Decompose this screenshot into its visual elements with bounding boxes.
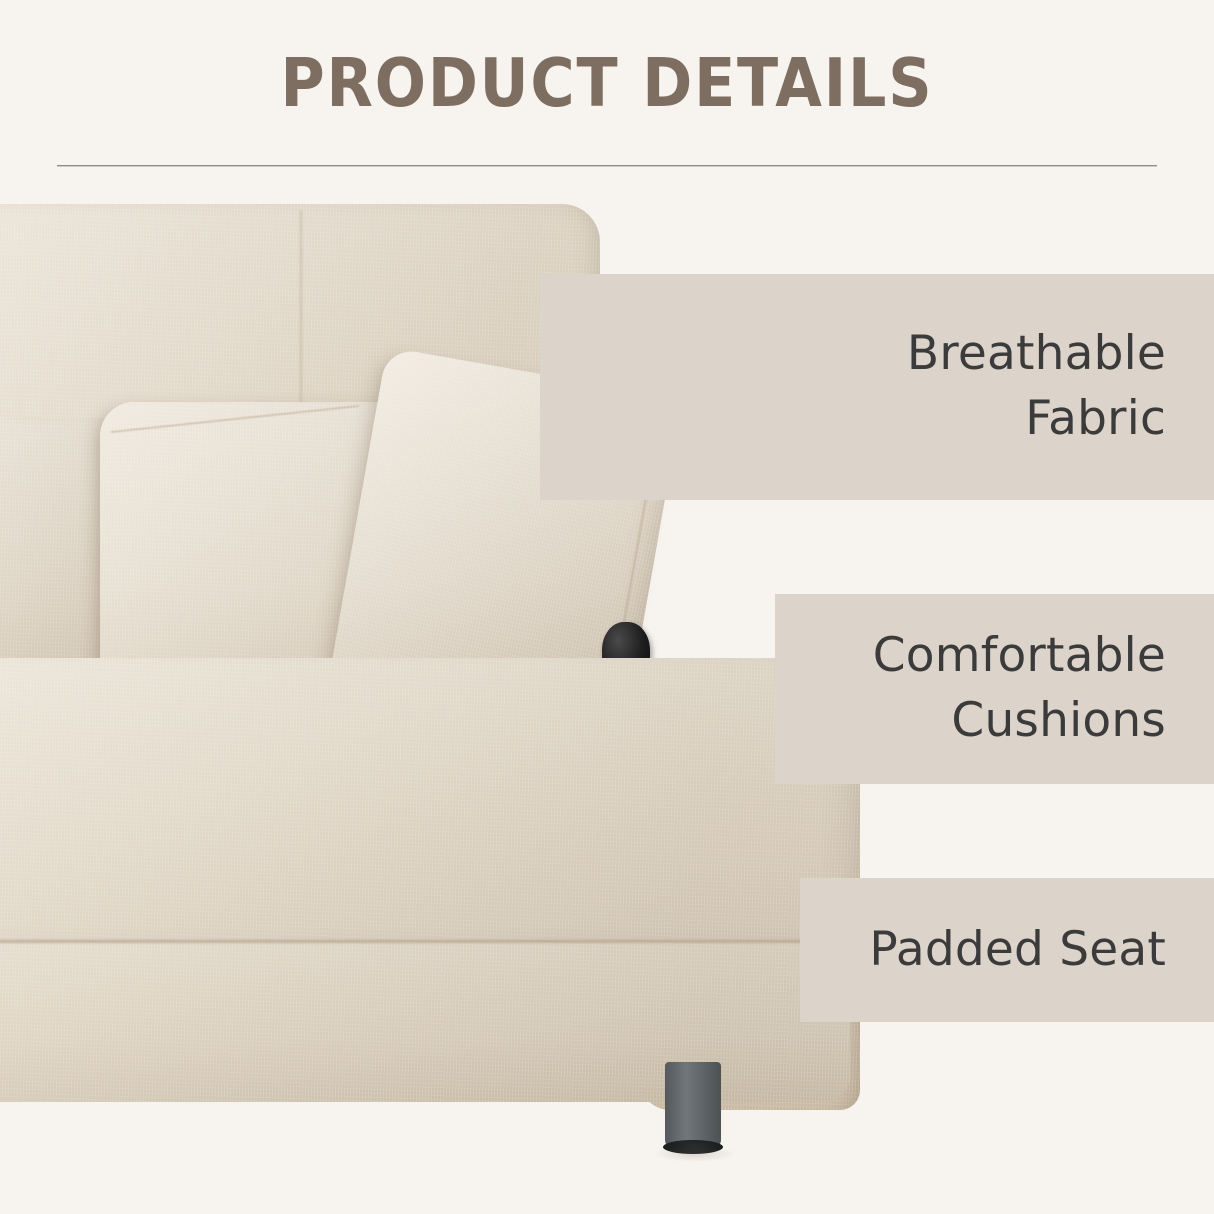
header-divider [57, 165, 1157, 167]
fabric-texture [100, 402, 580, 722]
sofa-backrest [0, 204, 600, 664]
metal-bracket [574, 601, 617, 729]
fabric-texture [0, 418, 170, 718]
fabric-texture [0, 658, 860, 958]
cushion-gap-shadow [86, 510, 112, 740]
fabric-texture [0, 942, 850, 1102]
seat-gap-shadow [20, 684, 580, 702]
feature-label-breathable-fabric: Breathable Fabric [907, 322, 1214, 452]
sofa-seat-cushion [0, 658, 860, 958]
feature-label-comfortable-cushions: Comfortable Cushions [873, 624, 1214, 754]
feature-band-comfortable-cushions: Comfortable Cushions [775, 594, 1214, 784]
feature-band-breathable-fabric: Breathable Fabric [540, 274, 1214, 500]
back-cushion-left [0, 418, 170, 718]
feature-label-padded-seat: Padded Seat [869, 918, 1214, 983]
fabric-texture [0, 204, 600, 664]
back-cushion-main [100, 402, 580, 722]
sofa-leg [665, 1062, 721, 1148]
sofa-leg-shadow [652, 1146, 736, 1162]
product-details-page: PRODUCT DETAILS Breathable Fabric Comfor… [0, 0, 1214, 1214]
seat-base-seam [0, 940, 850, 943]
feature-band-padded-seat: Padded Seat [800, 878, 1214, 1022]
sofa-leg-foot [663, 1140, 723, 1154]
sofa-base-skirt [0, 942, 850, 1102]
armrest-knob [602, 622, 650, 684]
page-title: PRODUCT DETAILS [61, 48, 1154, 118]
